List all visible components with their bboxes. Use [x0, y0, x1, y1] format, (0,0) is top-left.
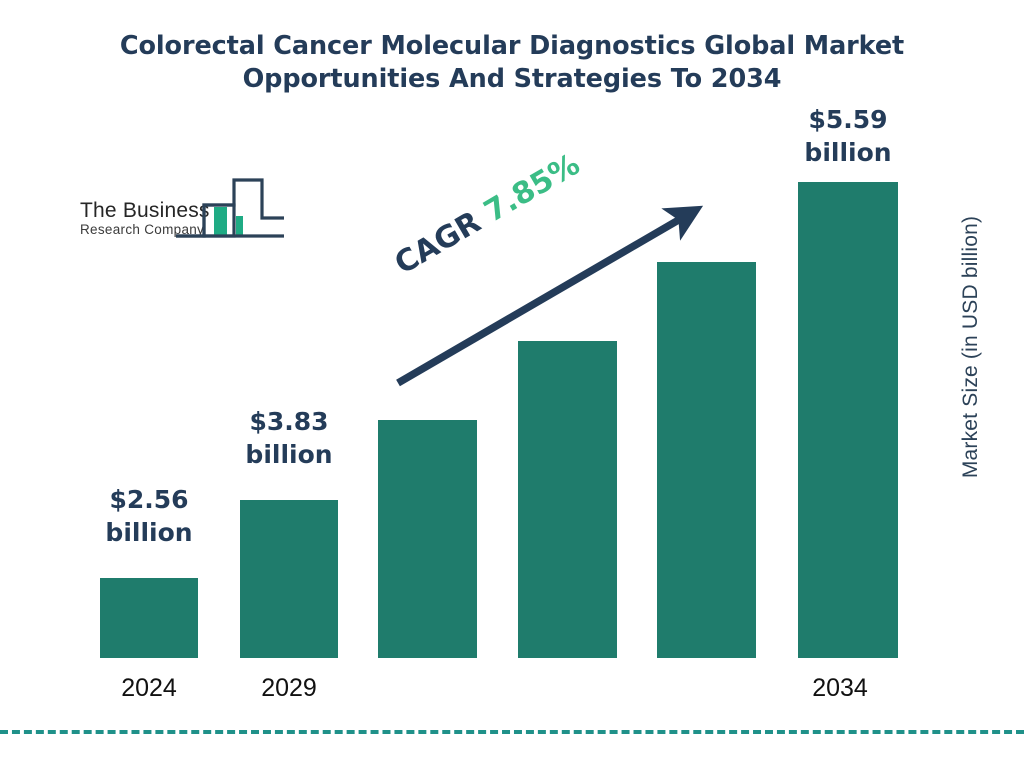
bar-value-2034: $5.59 billion: [783, 103, 913, 169]
cagr-value: 7.85%: [478, 147, 586, 230]
bar-value-2024: $2.56 billion: [84, 483, 214, 549]
x-tick-2029: 2029: [220, 673, 358, 703]
bar-value-2029: $3.83 billion: [224, 405, 354, 471]
bar-chart-plot: $2.56 billion $3.83 billion $5.59 billio…: [0, 0, 1024, 768]
bar-3: [378, 420, 477, 658]
cagr-word: CAGR: [389, 199, 496, 281]
bar-2034: [798, 182, 898, 658]
chart-page: Colorectal Cancer Molecular Diagnostics …: [0, 0, 1024, 768]
footer-dashed-rule: [0, 730, 1024, 734]
bar-5: [657, 262, 756, 658]
bar-4: [518, 341, 617, 658]
y-axis-title: Market Size (in USD billion): [959, 182, 983, 512]
x-tick-2034: 2034: [770, 673, 910, 703]
cagr-annotation: CAGR 7.85%: [389, 148, 585, 282]
bar-2024: [100, 578, 198, 658]
x-tick-2024: 2024: [80, 673, 218, 703]
bar-2029: [240, 500, 338, 658]
